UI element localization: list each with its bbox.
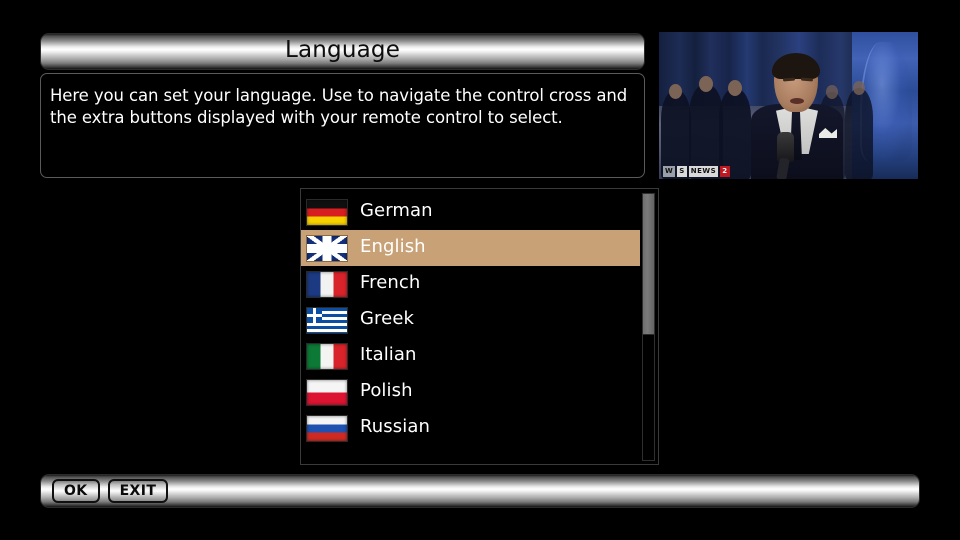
- channel-logo-part: W: [663, 166, 675, 177]
- language-label: Italian: [360, 346, 417, 364]
- flag-ru-icon: [306, 415, 348, 442]
- flag-gr-icon: [306, 307, 348, 334]
- crowd-head: [669, 84, 682, 99]
- tv-osd-screen: Language Here you can set your language.…: [0, 0, 960, 540]
- description-text: Here you can set your language. Use to n…: [50, 85, 632, 129]
- title-bar: Language: [40, 33, 645, 70]
- list-item[interactable]: Italian: [301, 338, 640, 374]
- bottom-button-bar: OK EXIT: [40, 474, 920, 508]
- channel-logo-part: S: [677, 166, 687, 177]
- scrollbar-thumb[interactable]: [643, 194, 654, 335]
- description-box: Here you can set your language. Use to n…: [40, 73, 645, 178]
- scrollbar[interactable]: [642, 193, 655, 461]
- exit-button[interactable]: EXIT: [108, 479, 169, 503]
- flag-pl-icon: [306, 379, 348, 406]
- list-item[interactable]: German: [301, 194, 640, 230]
- video-preview[interactable]: W S NEWS 2: [659, 32, 918, 179]
- language-label: Russian: [360, 418, 430, 436]
- crowd-head: [826, 85, 838, 99]
- channel-logo: W S NEWS 2: [661, 165, 732, 177]
- language-list-panel[interactable]: German English French Greek Italian Poli: [300, 188, 659, 465]
- language-list: German English French Greek Italian Poli: [301, 194, 640, 446]
- list-item[interactable]: Polish: [301, 374, 640, 410]
- list-item[interactable]: Greek: [301, 302, 640, 338]
- language-label: Polish: [360, 382, 413, 400]
- flag-de-icon: [306, 199, 348, 226]
- flag-gb-icon: [306, 235, 348, 262]
- language-label: German: [360, 202, 433, 220]
- language-label: Greek: [360, 310, 414, 328]
- crowd-figure: [845, 88, 873, 179]
- list-item[interactable]: French: [301, 266, 640, 302]
- channel-logo-part: 2: [720, 166, 729, 177]
- crowd-head: [728, 80, 742, 96]
- list-item[interactable]: Russian: [301, 410, 640, 446]
- list-item[interactable]: English: [301, 230, 640, 266]
- flag-fr-icon: [306, 271, 348, 298]
- channel-logo-part: NEWS: [689, 166, 718, 177]
- language-label: English: [360, 238, 426, 256]
- language-label: French: [360, 274, 420, 292]
- ok-button[interactable]: OK: [52, 479, 100, 503]
- page-title: Language: [285, 39, 400, 62]
- crowd-head: [853, 81, 865, 95]
- crowd-head: [699, 76, 713, 92]
- reporter-mouth: [790, 98, 804, 104]
- flag-it-icon: [306, 343, 348, 370]
